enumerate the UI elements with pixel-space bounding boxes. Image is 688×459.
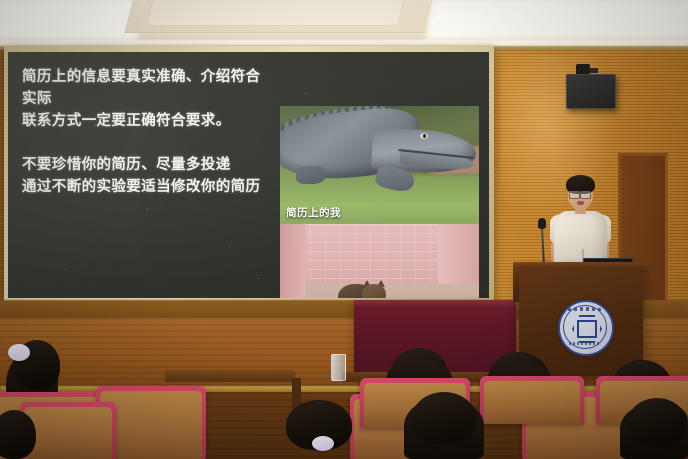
slide-meme-image: 简历上的我 实际的我 bbox=[280, 106, 479, 298]
emblem-text-top bbox=[568, 307, 602, 311]
ceiling bbox=[0, 0, 688, 46]
slide-line-1: 简历上的信息要真实准确、介绍符合实际 bbox=[22, 66, 270, 110]
seat-back-panel bbox=[484, 381, 580, 424]
left-side-table bbox=[165, 370, 295, 382]
slide-line-4: 通过不断的实验要适当修改你的简历 bbox=[22, 176, 270, 198]
glasses-lens-right-icon bbox=[580, 191, 591, 199]
slide-line-2: 联系方式一定要正确符合要求。 bbox=[22, 110, 270, 132]
ceiling-panel-inner bbox=[146, 0, 406, 26]
hair-scrunchie-center bbox=[312, 436, 334, 451]
meme-caption-top: 简历上的我 bbox=[286, 205, 341, 220]
seat-back-panel bbox=[24, 407, 112, 459]
crocodile-eye bbox=[420, 133, 428, 139]
ceiling-light-right bbox=[426, 0, 688, 40]
cat-head bbox=[362, 284, 386, 298]
slide-spacer bbox=[22, 132, 270, 154]
attendee-head-front-center bbox=[412, 392, 476, 444]
microphone-icon bbox=[538, 218, 546, 229]
emblem-text-bottom bbox=[569, 342, 601, 345]
presenter-mouth bbox=[577, 201, 584, 205]
glasses-lens-left-icon bbox=[569, 191, 580, 199]
pavement-floor bbox=[306, 284, 479, 298]
hair-scrunchie-left bbox=[8, 344, 30, 361]
speaker-arm bbox=[589, 68, 598, 73]
crocodile-hind-leg bbox=[296, 166, 326, 184]
draped-table-top bbox=[354, 300, 516, 307]
wall-column-right bbox=[438, 224, 479, 290]
wall-column-left bbox=[280, 224, 306, 298]
meme-bottom-panel-cat bbox=[280, 224, 479, 298]
wall-speaker bbox=[566, 74, 616, 109]
ceiling-light-left bbox=[0, 0, 144, 40]
seat-mid-3 bbox=[480, 376, 584, 424]
emblem-inner-shape-icon bbox=[577, 320, 597, 338]
attendee-head-front-right bbox=[628, 398, 686, 446]
slide-text-block: 简历上的信息要真实准确、介绍符合实际 联系方式一定要正确符合要求。 不要珍惜你的… bbox=[22, 66, 270, 198]
university-emblem bbox=[558, 300, 614, 356]
presenter bbox=[548, 175, 612, 271]
lecture-hall-photo: 简历上的信息要真实准确、介绍符合实际 联系方式一定要正确符合要求。 不要珍惜你的… bbox=[0, 0, 688, 459]
slide-line-3: 不要珍惜你的简历、尽量多投递 bbox=[22, 154, 270, 176]
water-glass bbox=[331, 354, 346, 381]
projection-screen[interactable]: 简历上的信息要真实准确、介绍符合实际 联系方式一定要正确符合要求。 不要珍惜你的… bbox=[8, 52, 489, 298]
